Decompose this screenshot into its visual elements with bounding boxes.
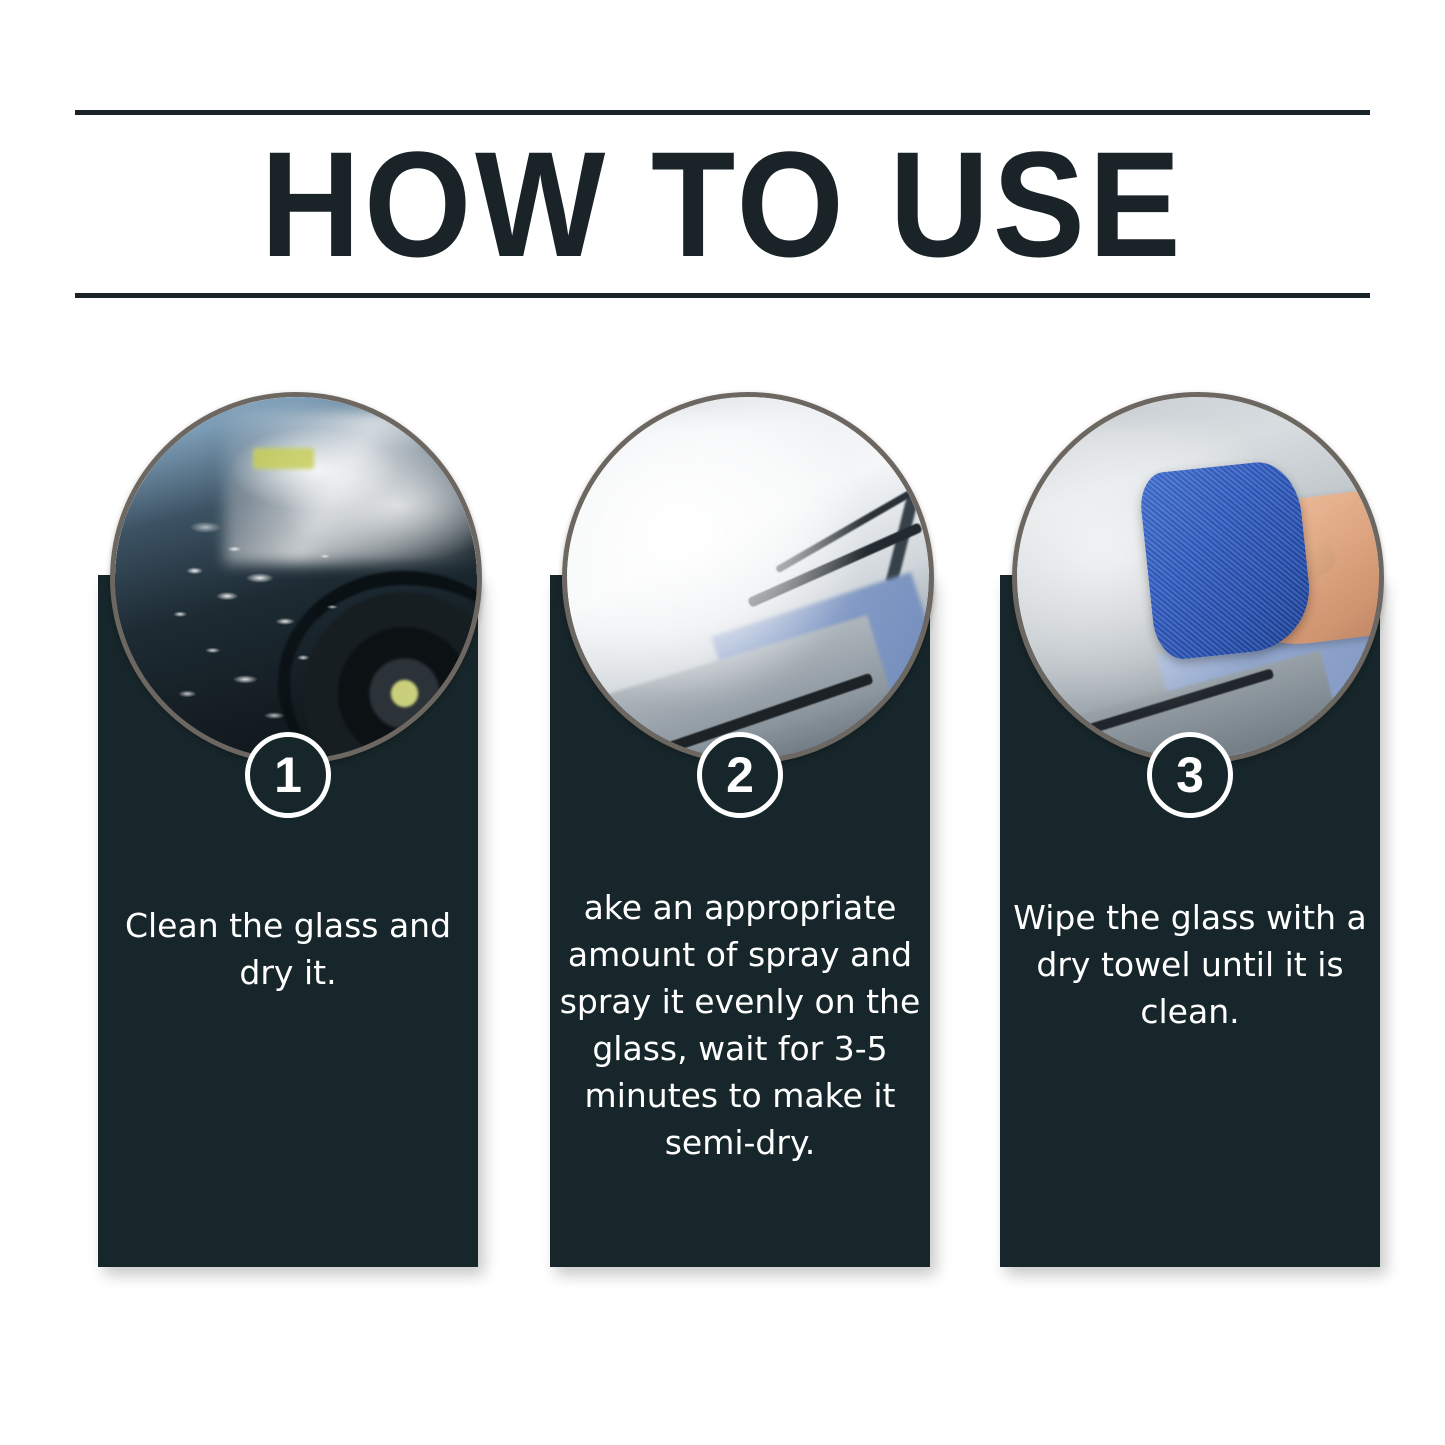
step-number-3: 3: [1176, 750, 1204, 800]
page-header: HOW TO USE: [75, 110, 1370, 298]
page-title: HOW TO USE: [127, 115, 1318, 293]
wiping-photo: [1017, 397, 1379, 759]
step-photo-3: [1012, 392, 1384, 764]
step-photo-2: [562, 392, 934, 764]
step-badge-2: 2: [697, 732, 783, 818]
steps-row: 1 Clean the glass and dry it. 2 ake an a…: [0, 392, 1445, 1292]
soap-suds: [115, 397, 477, 759]
step-number-2: 2: [726, 750, 754, 800]
step-number-1: 1: [274, 750, 302, 800]
car-wash-photo: [115, 397, 477, 759]
header-rule-bottom: [75, 293, 1370, 298]
windshield-photo: [567, 397, 929, 759]
step-photo-1: [110, 392, 482, 764]
step-badge-1: 1: [245, 732, 331, 818]
step-card-3: 3 Wipe the glass with a dry towel until …: [1000, 392, 1380, 1272]
step-card-1: 1 Clean the glass and dry it.: [98, 392, 478, 1272]
step-card-2: 2 ake an appropriate amount of spray and…: [550, 392, 930, 1272]
step-caption-2: ake an appropriate amount of spray and s…: [558, 884, 922, 1166]
step-caption-1: Clean the glass and dry it.: [106, 902, 470, 996]
step-caption-3: Wipe the glass with a dry towel until it…: [1008, 894, 1372, 1035]
microfiber-towel: [1138, 458, 1316, 662]
step-badge-3: 3: [1147, 732, 1233, 818]
glass-haze: [567, 415, 857, 697]
